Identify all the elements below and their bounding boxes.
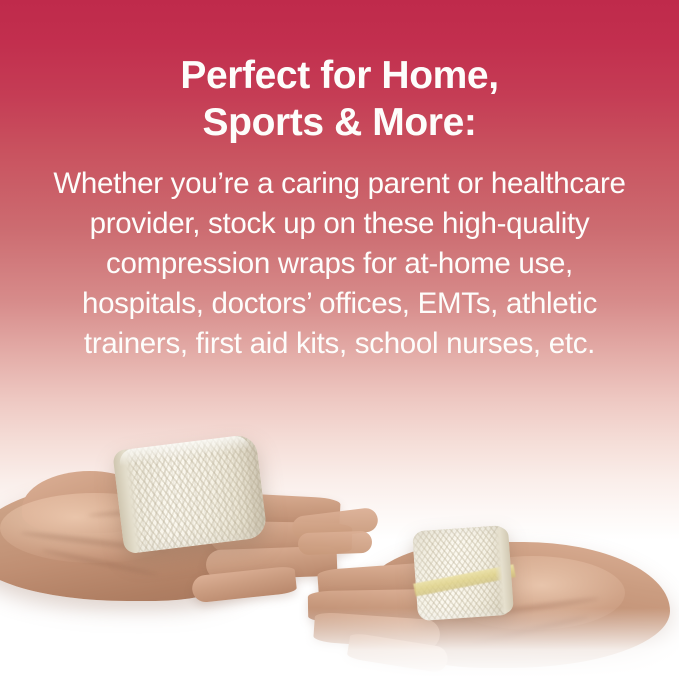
compression-wrap-roll-right: [412, 525, 514, 621]
page-title: Perfect for Home, Sports & More:: [0, 52, 679, 146]
product-photo: [0, 400, 679, 678]
headline-line-1: Perfect for Home,: [30, 52, 649, 99]
headline-line-2: Sports & More:: [30, 99, 649, 146]
body-line-2: provider, stock up on these high-quality: [18, 204, 661, 244]
body-line-1: Whether you’re a caring parent or health…: [18, 164, 661, 204]
text-block: Perfect for Home, Sports & More: Whether…: [0, 52, 679, 364]
right-hand-far-finger: [298, 531, 373, 556]
product-feature-banner: Perfect for Home, Sports & More: Whether…: [0, 0, 679, 678]
body-line-5: trainers, first aid kits, school nurses,…: [18, 324, 661, 364]
compression-wrap-roll-left: [112, 434, 268, 555]
body-copy: Whether you’re a caring parent or health…: [0, 164, 679, 364]
body-line-3: compression wraps for at-home use,: [18, 244, 661, 284]
body-line-4: hospitals, doctors’ offices, EMTs, athle…: [18, 284, 661, 324]
